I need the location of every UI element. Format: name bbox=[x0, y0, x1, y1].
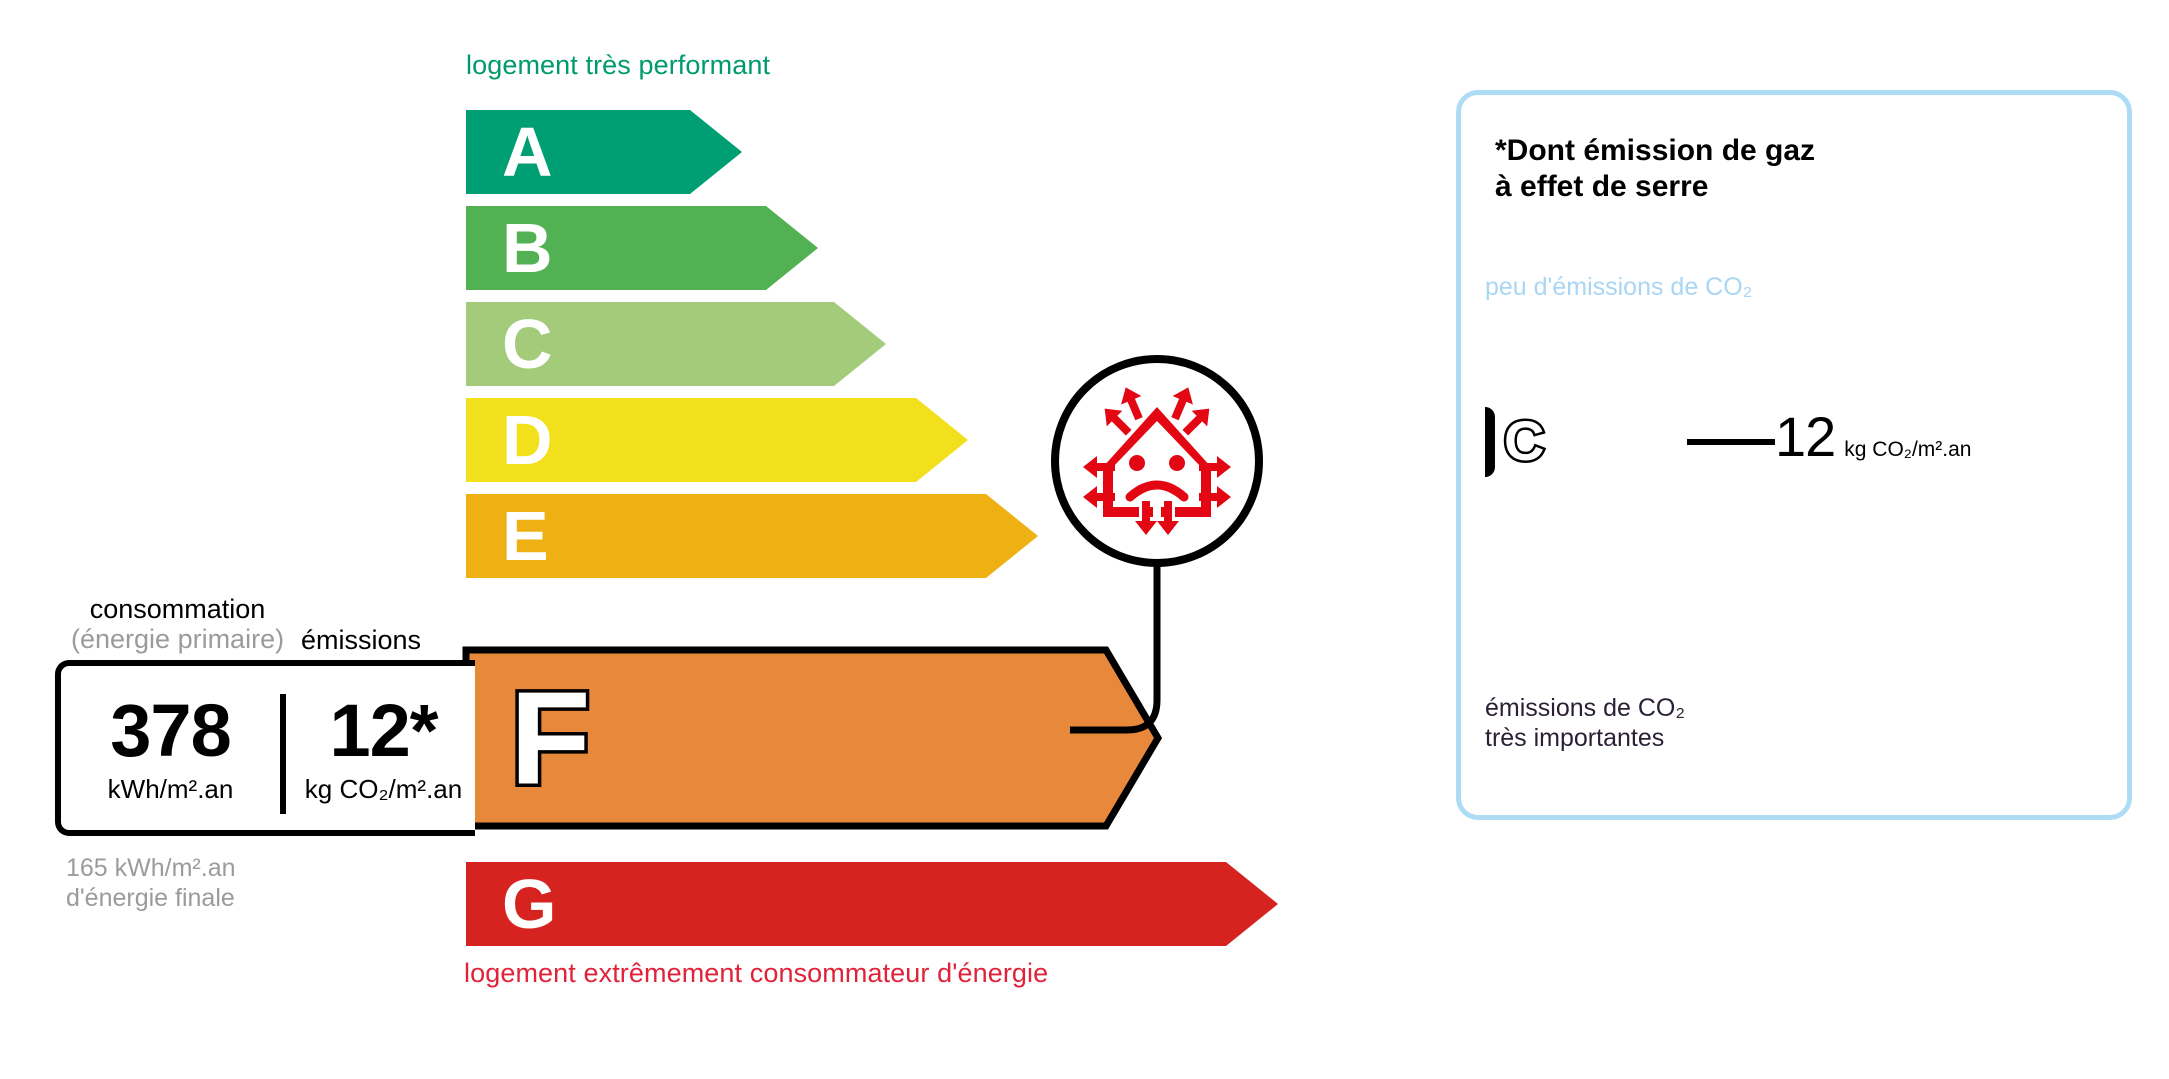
co2-row-f: F bbox=[1485, 591, 1777, 637]
final-energy-line1: 165 kWh/m².an bbox=[66, 853, 236, 883]
consumption-value: 378 bbox=[110, 694, 230, 768]
energy-band-c: C bbox=[466, 302, 886, 386]
emissions-value: 12* bbox=[329, 694, 437, 768]
co2-panel-title: *Dont émission de gaz à effet de serre bbox=[1495, 133, 1815, 205]
energy-performance-scale: logement très performant ABCDEFG logemen… bbox=[0, 0, 1330, 1079]
co2-row-e: E bbox=[1485, 539, 1741, 585]
value-box: 378 kWh/m².an 12* kg CO₂/m².an bbox=[55, 660, 475, 836]
co2-row-letter: D bbox=[1502, 492, 1527, 526]
consumption-header-main: consommation bbox=[71, 594, 284, 624]
co2-row-letter: B bbox=[1502, 364, 1527, 398]
energy-band-letter: B bbox=[502, 209, 553, 287]
co2-row-b: B bbox=[1485, 359, 1627, 405]
energy-band-letter: D bbox=[502, 401, 553, 479]
energy-band-b: B bbox=[466, 206, 818, 290]
final-energy-line2: d'énergie finale bbox=[66, 883, 236, 913]
co2-leader-line bbox=[1687, 439, 1775, 445]
co2-bottom-line2: très importantes bbox=[1485, 723, 1685, 753]
final-energy-note: 165 kWh/m².an d'énergie finale bbox=[66, 853, 236, 913]
co2-title-line2: à effet de serre bbox=[1495, 169, 1815, 205]
consumption-header-sub: (énergie primaire) bbox=[71, 624, 284, 654]
co2-row-letter: G bbox=[1502, 648, 1528, 682]
energy-band-letter: F bbox=[510, 665, 591, 812]
energy-band-letter: E bbox=[502, 497, 549, 575]
emissions-value-cell: 12* kg CO₂/m².an bbox=[286, 666, 481, 830]
energy-band-e: E bbox=[466, 494, 1038, 578]
co2-top-label: peu d'émissions de CO₂ bbox=[1485, 273, 1752, 302]
energy-band-letter: C bbox=[502, 305, 553, 383]
energy-band-g: G bbox=[466, 862, 1278, 946]
co2-row-a: A bbox=[1485, 307, 1597, 353]
co2-row-letter: C bbox=[1504, 413, 1544, 469]
co2-value-callout: 12 kg CO₂/m².an bbox=[1775, 409, 1971, 465]
co2-bottom-label: émissions de CO₂ très importantes bbox=[1485, 693, 1685, 753]
co2-row-g: G bbox=[1485, 643, 1815, 689]
co2-emissions-panel: *Dont émission de gaz à effet de serre p… bbox=[1456, 90, 2132, 820]
consumption-unit: kWh/m².an bbox=[108, 776, 234, 802]
energy-band-d: D bbox=[466, 398, 968, 482]
co2-row-letter: A bbox=[1502, 312, 1527, 346]
emissions-header: émissions bbox=[301, 625, 421, 655]
co2-bar bbox=[1485, 407, 1495, 477]
emissions-unit: kg CO₂/m².an bbox=[305, 776, 462, 802]
consumption-header: consommation (énergie primaire) bbox=[71, 594, 284, 654]
consumption-value-cell: 378 kWh/m².an bbox=[61, 666, 280, 830]
co2-value-unit: kg CO₂/m².an bbox=[1844, 438, 1971, 462]
energy-band-letter: G bbox=[502, 865, 556, 943]
energy-band-f: F bbox=[466, 650, 1158, 826]
co2-row-letter: F bbox=[1502, 596, 1523, 630]
energy-band-letter: A bbox=[502, 113, 553, 191]
energy-band-a: A bbox=[466, 110, 742, 194]
co2-bottom-line1: émissions de CO₂ bbox=[1485, 693, 1685, 723]
co2-value-number: 12 bbox=[1775, 409, 1835, 465]
co2-row-d: D bbox=[1485, 487, 1709, 533]
scale-bottom-caption: logement extrêmement consommateur d'éner… bbox=[464, 958, 1048, 989]
co2-row-letter: E bbox=[1502, 544, 1525, 578]
energy-bands-group: ABCDEFG bbox=[0, 0, 1330, 1079]
co2-title-line1: *Dont émission de gaz bbox=[1495, 133, 1815, 169]
co2-row-c: C bbox=[1485, 407, 1669, 477]
